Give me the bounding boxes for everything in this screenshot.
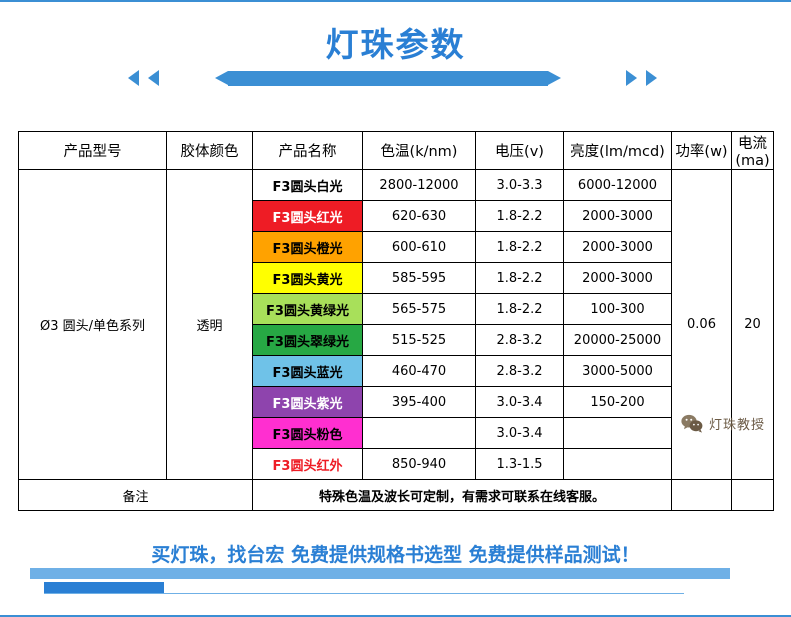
cell-notes-text: 特殊色温及波长可定制，有需求可联系在线客服。 — [253, 480, 672, 511]
cell-voltage: 1.8-2.2 — [476, 294, 564, 325]
title-decor-banner — [0, 66, 791, 92]
cell-notes-label: 备注 — [19, 480, 253, 511]
cell-voltage: 3.0-3.4 — [476, 418, 564, 449]
cell-product-name: F3圆头橙光 — [253, 232, 363, 263]
header-cell-current: 电流(ma) — [732, 132, 774, 170]
cell-product-name: F3圆头粉色 — [253, 418, 363, 449]
cell-model: Ø3 圆头/单色系列 — [19, 170, 167, 480]
header-cell-power: 功率(w) — [672, 132, 732, 170]
cell-luminance: 150-200 — [564, 387, 672, 418]
cell-cct: 395-400 — [363, 387, 476, 418]
cell-product-name: F3圆头红外 — [253, 449, 363, 480]
header-cell-voltage: 电压(v) — [476, 132, 564, 170]
wechat-icon — [681, 414, 703, 433]
cell-voltage: 1.8-2.2 — [476, 232, 564, 263]
cell-cct: 585-595 — [363, 263, 476, 294]
footer-slogan: 买灯珠，找台宏 免费提供规格书选型 免费提供样品测试！ — [0, 540, 791, 567]
cell-notes-blank-current — [732, 480, 774, 511]
header-cell-name: 产品名称 — [253, 132, 363, 170]
top-rule — [0, 0, 791, 2]
cell-voltage: 1.8-2.2 — [476, 263, 564, 294]
footer-ribbon-1 — [30, 568, 730, 579]
cell-luminance: 2000-3000 — [564, 201, 672, 232]
cell-cct: 565-575 — [363, 294, 476, 325]
chevron-left-icon-2 — [148, 70, 159, 86]
cell-product-name: F3圆头黄绿光 — [253, 294, 363, 325]
cell-current: 20 — [732, 170, 774, 480]
chevron-right-icon-5 — [646, 70, 657, 86]
cell-product-name: F3圆头黄光 — [253, 263, 363, 294]
chevron-right-icon-4 — [626, 70, 637, 86]
header-cell-cct: 色温(k/nm) — [363, 132, 476, 170]
cell-cct: 460-470 — [363, 356, 476, 387]
cell-voltage: 1.8-2.2 — [476, 201, 564, 232]
cell-cct — [363, 418, 476, 449]
cell-voltage: 2.8-3.2 — [476, 325, 564, 356]
wechat-badge: 灯珠教授 — [681, 414, 765, 433]
footer-ribbon-3 — [44, 582, 684, 594]
chevron-left-icon-1 — [128, 70, 139, 86]
cell-glue-color: 透明 — [167, 170, 253, 480]
table-notes-row: 备注特殊色温及波长可定制，有需求可联系在线客服。 — [19, 480, 774, 511]
cell-cct: 2800-12000 — [363, 170, 476, 201]
cell-cct: 600-610 — [363, 232, 476, 263]
cell-luminance: 20000-25000 — [564, 325, 672, 356]
cell-luminance — [564, 449, 672, 480]
cell-product-name: F3圆头蓝光 — [253, 356, 363, 387]
cell-luminance — [564, 418, 672, 449]
table-header-row: 产品型号 胶体颜色 产品名称 色温(k/nm) 电压(v) 亮度(lm/mcd)… — [19, 132, 774, 170]
cell-product-name: F3圆头紫光 — [253, 387, 363, 418]
wechat-label: 灯珠教授 — [709, 414, 765, 433]
footer-ribbons — [0, 568, 791, 608]
cell-luminance: 2000-3000 — [564, 263, 672, 294]
cell-cct: 515-525 — [363, 325, 476, 356]
cell-product-name: F3圆头翠绿光 — [253, 325, 363, 356]
cell-voltage: 2.8-3.2 — [476, 356, 564, 387]
cell-cct: 620-630 — [363, 201, 476, 232]
parameters-table-wrap: 产品型号 胶体颜色 产品名称 色温(k/nm) 电压(v) 亮度(lm/mcd)… — [18, 131, 773, 511]
cell-luminance: 2000-3000 — [564, 232, 672, 263]
cell-product-name: F3圆头白光 — [253, 170, 363, 201]
parameters-table: 产品型号 胶体颜色 产品名称 色温(k/nm) 电压(v) 亮度(lm/mcd)… — [18, 131, 774, 511]
cell-luminance: 100-300 — [564, 294, 672, 325]
header-cell-lumen: 亮度(lm/mcd) — [564, 132, 672, 170]
cell-product-name: F3圆头红光 — [253, 201, 363, 232]
cell-luminance: 6000-12000 — [564, 170, 672, 201]
cell-cct: 850-940 — [363, 449, 476, 480]
cell-notes-blank-power — [672, 480, 732, 511]
page-title: 灯珠参数 — [0, 18, 791, 66]
cell-voltage: 3.0-3.4 — [476, 387, 564, 418]
cell-luminance: 3000-5000 — [564, 356, 672, 387]
cell-voltage: 3.0-3.3 — [476, 170, 564, 201]
header-cell-model: 产品型号 — [19, 132, 167, 170]
cell-voltage: 1.3-1.5 — [476, 449, 564, 480]
banner-bar — [228, 71, 548, 86]
header-cell-glue: 胶体颜色 — [167, 132, 253, 170]
table-header: 产品型号 胶体颜色 产品名称 色温(k/nm) 电压(v) 亮度(lm/mcd)… — [19, 132, 774, 170]
table-body: Ø3 圆头/单色系列透明F3圆头白光2800-120003.0-3.36000-… — [19, 170, 774, 511]
table-row: Ø3 圆头/单色系列透明F3圆头白光2800-120003.0-3.36000-… — [19, 170, 774, 201]
